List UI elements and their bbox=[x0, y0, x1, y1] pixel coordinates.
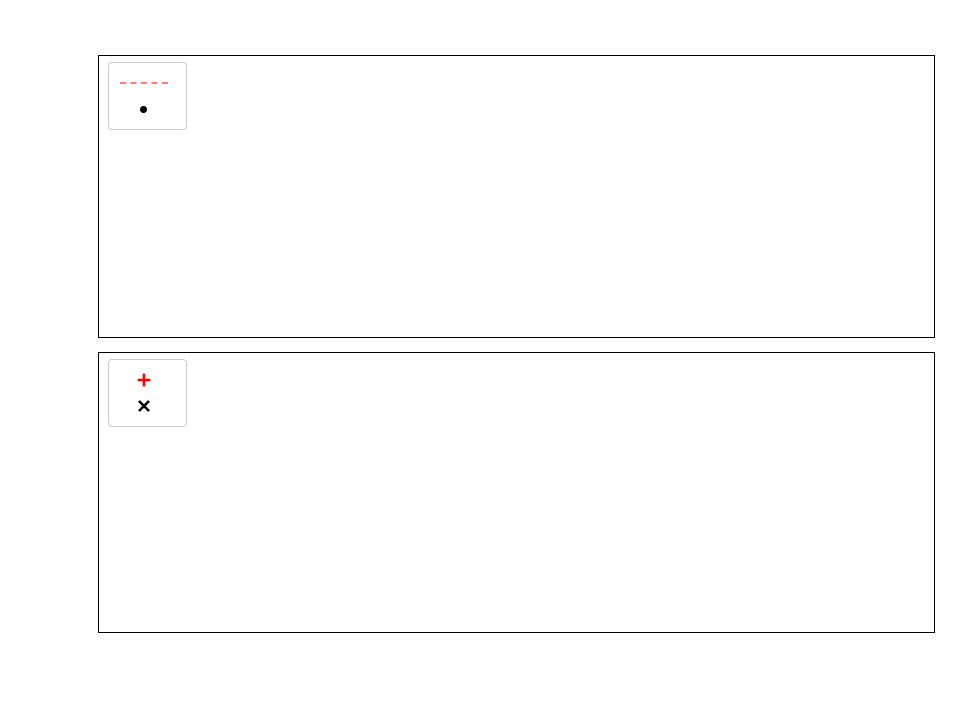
bottom-panel-axes bbox=[98, 352, 935, 633]
matched-plus-swatch bbox=[118, 368, 170, 392]
measurement-dot-swatch bbox=[118, 97, 170, 121]
top-panel-legend bbox=[108, 62, 187, 130]
legend-entry-matched-stars bbox=[118, 367, 176, 393]
legend-entry-measurements bbox=[118, 96, 176, 122]
predicted-cross-swatch bbox=[118, 394, 170, 418]
top-panel-plot-area bbox=[99, 56, 934, 337]
threshold-line-swatch bbox=[118, 71, 170, 95]
bottom-panel-plot-area bbox=[99, 353, 934, 632]
legend-entry-threshold bbox=[118, 70, 176, 96]
legend-entry-predicted-stars bbox=[118, 393, 176, 419]
top-panel-axes bbox=[98, 55, 935, 338]
bottom-panel-legend bbox=[108, 359, 187, 427]
figure-canvas bbox=[0, 0, 960, 720]
